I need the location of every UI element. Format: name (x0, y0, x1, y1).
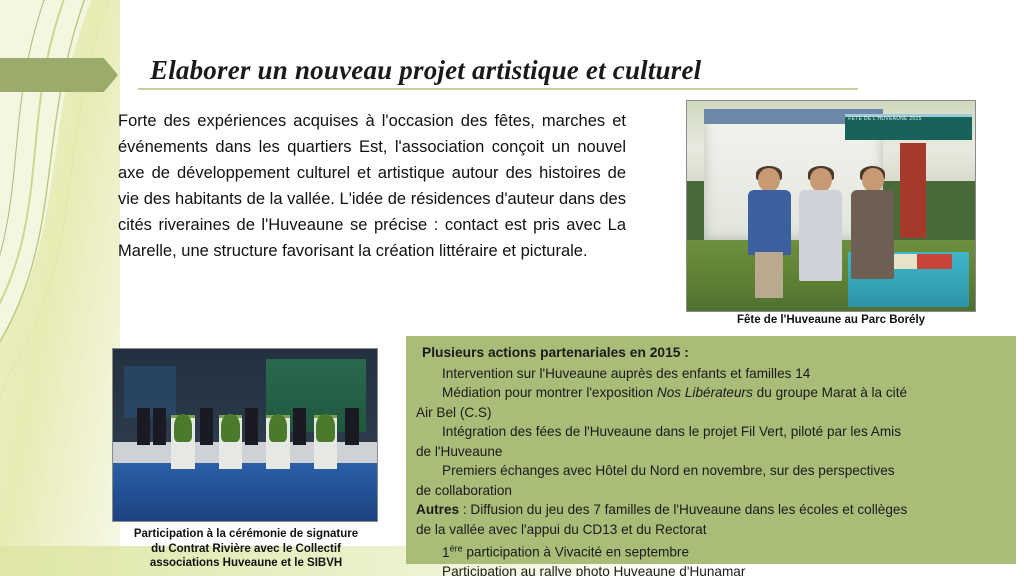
photo-side-banner (124, 366, 177, 418)
photo-blue-carpet (113, 463, 377, 521)
photo-person-head (810, 168, 832, 191)
photo-plant (221, 414, 239, 442)
fete-huveaune-caption: Fête de l'Huveaune au Parc Borély (686, 314, 976, 326)
photo-attendee (200, 408, 213, 446)
photo-person-dress (799, 190, 842, 281)
title-accent-tab (0, 58, 118, 92)
body-paragraph: Forte des expériences acquises à l'occas… (118, 108, 626, 264)
actions-box-heading: Plusieurs actions partenariales en 2015 … (422, 343, 1006, 363)
actions-box-lines: Intervention sur l'Huveaune auprès des e… (416, 364, 1006, 576)
photo-person-head (862, 168, 884, 191)
photo-person-right (848, 168, 897, 298)
photo-plant (174, 414, 192, 442)
actions-box-line: 1ère participation à Vivacité en septemb… (416, 539, 1006, 562)
actions-box-line: de la vallée avec l'appui du CD13 et du … (416, 520, 1006, 540)
actions-box-line-bold: Autres (416, 502, 459, 517)
photo-plant (269, 414, 287, 442)
actions-partenariales-box: Plusieurs actions partenariales en 2015 … (406, 336, 1016, 564)
photo-attendee (153, 408, 166, 446)
actions-box-line: de collaboration (416, 481, 1006, 501)
actions-box-line: Intervention sur l'Huveaune auprès des e… (416, 364, 1006, 384)
fete-huveaune-photo: FETE DE L'HUVEAUNE 2015 (686, 100, 976, 312)
photo-attendee (137, 408, 150, 446)
photo-attendee (245, 408, 258, 446)
photo-plant (316, 414, 334, 442)
actions-box-line: de l'Huveaune (416, 442, 1006, 462)
actions-box-line: Intégration des fées de l'Huveaune dans … (416, 422, 1006, 442)
actions-box-line: Autres : Diffusion du jeu des 7 familles… (416, 500, 1006, 520)
photo-banner-text: FETE DE L'HUVEAUNE 2015 (848, 116, 969, 122)
photo-attendee (345, 408, 358, 446)
title-underline-rule (138, 88, 858, 90)
actions-box-line: Premiers échanges avec Hôtel du Nord en … (416, 461, 1006, 481)
actions-box-line: Médiation pour montrer l'exposition Nos … (416, 383, 1006, 403)
caption-line-2: du Contrat Rivière avec le Collectif (96, 542, 396, 557)
photo-person-head (758, 168, 780, 191)
actions-box-line-italic: Nos Libérateurs (657, 385, 753, 400)
ceremonie-signature-caption: Participation à la cérémonie de signatur… (96, 527, 396, 571)
actions-box-line: Air Bel (C.S) (416, 403, 1006, 423)
photo-person-legs (755, 252, 782, 299)
photo-person-torso (748, 190, 791, 255)
caption-line-1: Participation à la cérémonie de signatur… (96, 527, 396, 542)
caption-line-3: associations Huveaune et le SIBVH (96, 556, 396, 571)
photo-person-left (745, 168, 794, 298)
photo-attendee (293, 408, 306, 446)
actions-box-ordinal: 1ère (442, 545, 463, 560)
photo-red-panel (900, 143, 926, 238)
photo-person-dress (851, 190, 894, 279)
ceremonie-signature-photo (112, 348, 378, 522)
actions-box-line: Participation au rallye photo Huveaune d… (416, 562, 1006, 576)
page-title: Elaborer un nouveau projet artistique et… (150, 55, 910, 86)
photo-person-middle (796, 168, 845, 298)
slide-root: Elaborer un nouveau projet artistique et… (0, 0, 1024, 576)
